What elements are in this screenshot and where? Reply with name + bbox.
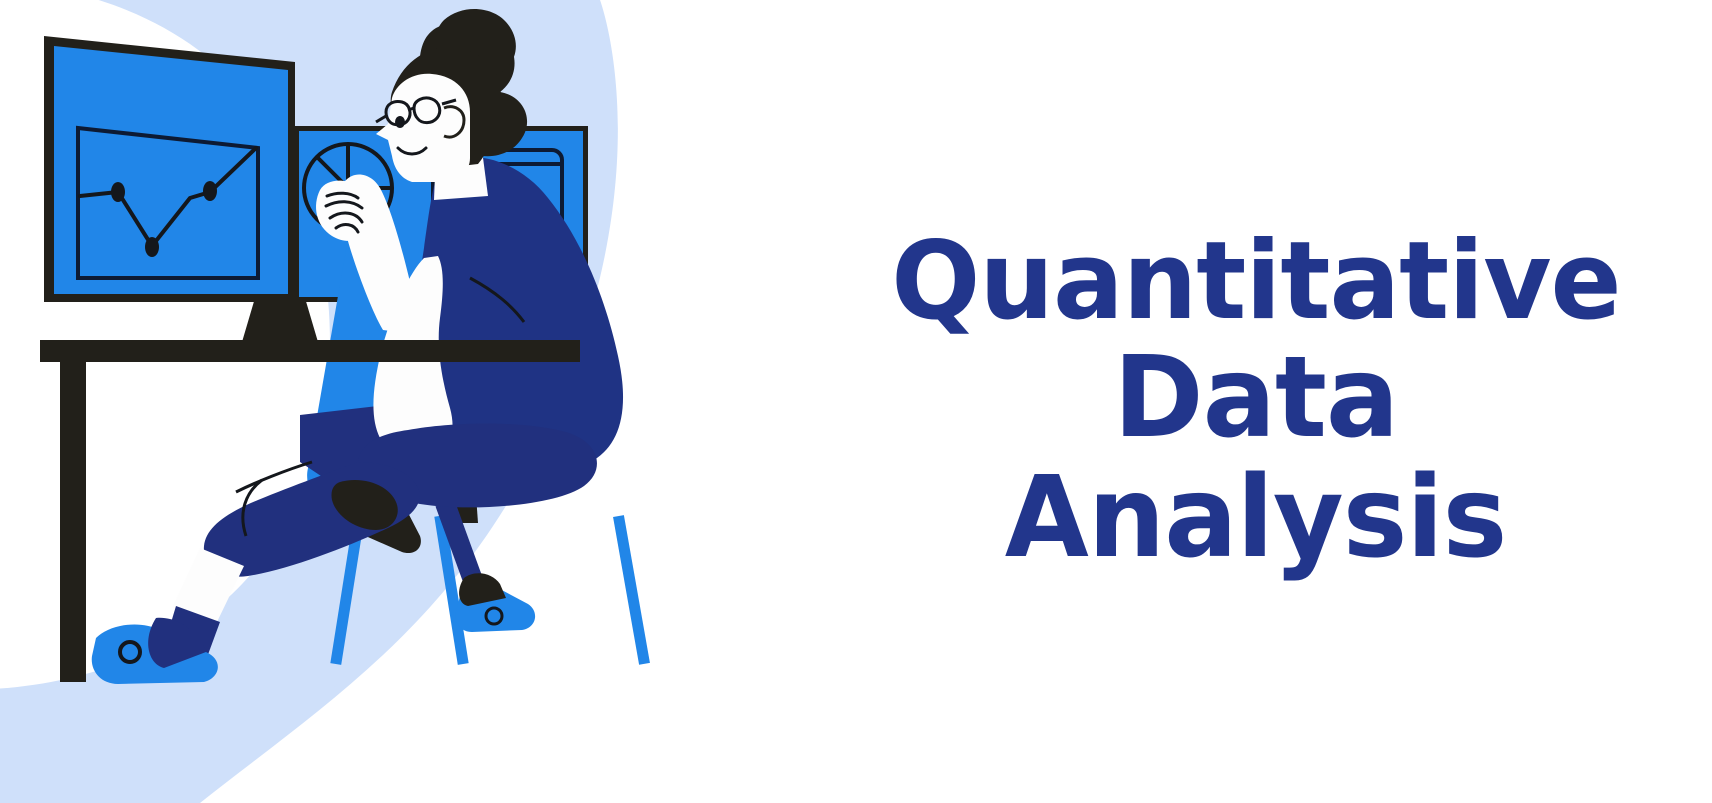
title-line-2: Data	[1114, 339, 1399, 459]
data-point	[203, 181, 217, 201]
hero-illustration	[0, 0, 800, 803]
headline-block: Quantitative Data Analysis	[800, 0, 1712, 803]
monitor-stand	[242, 298, 318, 342]
title-line-1: Quantitative	[891, 224, 1620, 340]
left-monitor	[44, 36, 295, 302]
banner-canvas: Quantitative Data Analysis	[0, 0, 1712, 803]
data-point	[145, 237, 159, 257]
title-line-3: Analysis	[1005, 459, 1507, 579]
data-point	[111, 182, 125, 202]
